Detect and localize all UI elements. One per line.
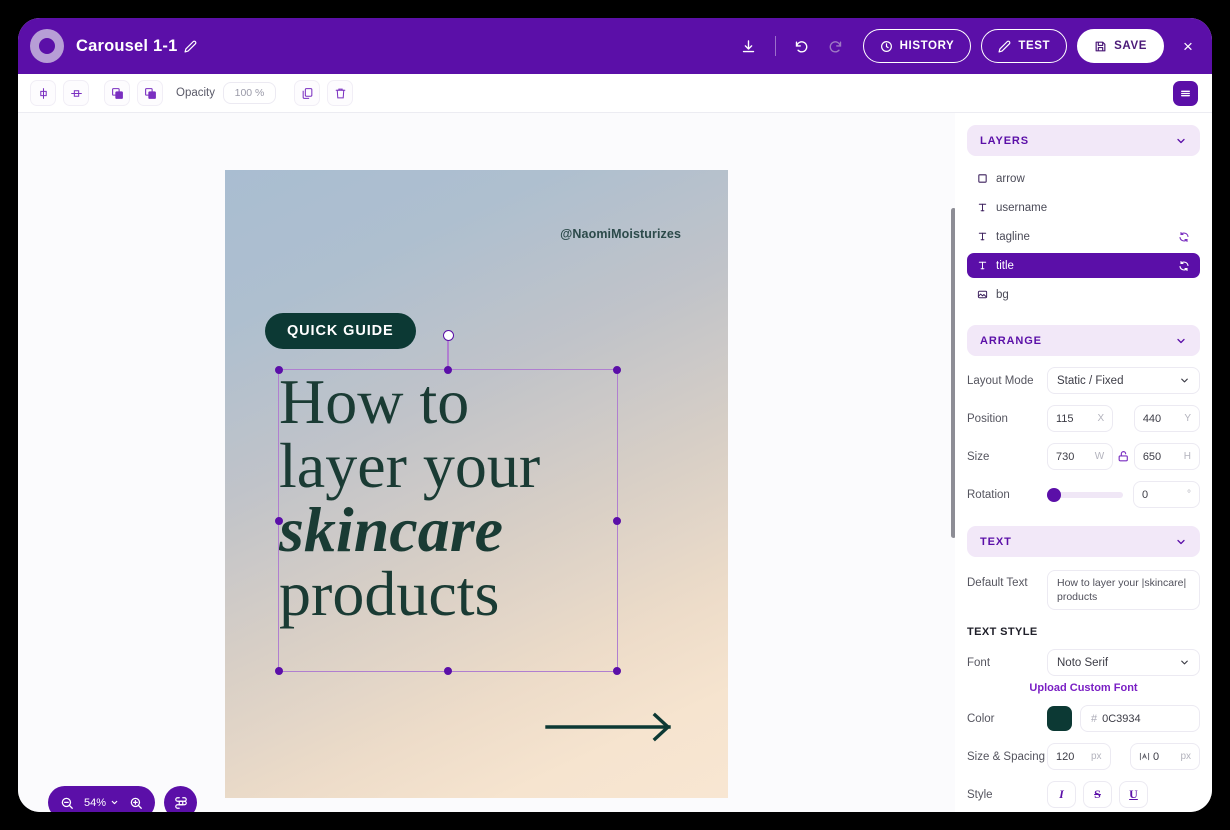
- top-bar-actions: HISTORY TEST SAVE ×: [732, 29, 1212, 63]
- canvas-username-text[interactable]: @NaomiMoisturizes: [560, 227, 681, 241]
- zoom-level-label: 54%: [84, 797, 106, 809]
- arrange-title: ARRANGE: [980, 335, 1042, 347]
- image-icon: [977, 289, 988, 300]
- resize-handle-middle-right[interactable]: [613, 517, 621, 525]
- size-spacing-row: Size & Spacing 120 px 0 px: [955, 743, 1212, 770]
- chevron-down-icon: [1175, 335, 1187, 347]
- letter-spacing-icon: [1139, 751, 1150, 762]
- position-label: Position: [967, 413, 1047, 425]
- layer-sync-icon[interactable]: [1178, 231, 1190, 243]
- font-value: Noto Serif: [1057, 657, 1108, 669]
- zoom-in-icon[interactable]: [129, 796, 143, 810]
- layer-label: bg: [996, 289, 1009, 301]
- font-size-input[interactable]: 120 px: [1047, 743, 1111, 770]
- position-y-input[interactable]: 440 Y: [1134, 405, 1200, 432]
- layer-item-tagline[interactable]: tagline: [967, 224, 1200, 249]
- position-x-unit: X: [1098, 413, 1105, 424]
- history-label: HISTORY: [900, 40, 955, 52]
- underline-button[interactable]: U: [1119, 781, 1148, 808]
- fit-to-screen-button[interactable]: [164, 786, 197, 812]
- font-size-unit: px: [1091, 751, 1102, 762]
- size-row: Size 730 W 650 H: [955, 443, 1212, 470]
- position-x-value: 115: [1056, 413, 1074, 425]
- right-panel: LAYERS arrow username tagline title: [955, 113, 1212, 812]
- redo-button[interactable]: [819, 29, 853, 63]
- layers-list: arrow username tagline title: [955, 156, 1212, 307]
- text-icon: [977, 202, 988, 213]
- chevron-down-icon: [1179, 375, 1190, 386]
- hex-value: 0C3934: [1102, 713, 1141, 725]
- size-height-input[interactable]: 650 H: [1134, 443, 1200, 470]
- canvas-title-text[interactable]: How to layer your skincare products: [279, 370, 629, 626]
- save-button[interactable]: SAVE: [1077, 29, 1164, 63]
- title-line-2: layer your: [279, 434, 629, 498]
- size-width-value: 730: [1056, 451, 1074, 463]
- default-text-label: Default Text: [967, 570, 1047, 589]
- resize-handle-bottom-right[interactable]: [613, 667, 621, 675]
- resize-handle-top-left[interactable]: [275, 366, 283, 374]
- rotation-slider-knob[interactable]: [1047, 488, 1061, 502]
- layers-section-header[interactable]: LAYERS: [967, 125, 1200, 156]
- font-size-value: 120: [1056, 751, 1074, 763]
- text-section-header[interactable]: TEXT: [967, 526, 1200, 557]
- rotation-handle[interactable]: [443, 330, 454, 341]
- save-label: SAVE: [1114, 40, 1147, 52]
- align-vertical-button[interactable]: [63, 80, 89, 106]
- align-horizontal-button[interactable]: [30, 80, 56, 106]
- text-icon: [977, 260, 988, 271]
- canvas-arrow-icon[interactable]: [545, 710, 675, 744]
- zoom-level-dropdown[interactable]: 54%: [84, 797, 119, 809]
- rotation-label: Rotation: [967, 489, 1047, 501]
- position-x-input[interactable]: 115 X: [1047, 405, 1113, 432]
- text-icon: [977, 231, 988, 242]
- resize-handle-bottom-center[interactable]: [444, 667, 452, 675]
- close-button[interactable]: ×: [1178, 38, 1198, 55]
- opacity-label: Opacity: [176, 87, 215, 99]
- size-height-value: 650: [1143, 451, 1161, 463]
- layout-mode-select[interactable]: Static / Fixed: [1047, 367, 1200, 394]
- chevron-down-icon: [1175, 536, 1187, 548]
- text-style-subheading: TEXT STYLE: [955, 626, 1212, 638]
- font-row: Font Noto Serif: [955, 649, 1212, 676]
- letter-spacing-unit: px: [1180, 751, 1191, 762]
- test-button[interactable]: TEST: [981, 29, 1067, 63]
- layer-label: username: [996, 202, 1047, 214]
- delete-button[interactable]: [327, 80, 353, 106]
- test-label: TEST: [1018, 40, 1050, 52]
- app-window: Carousel 1-1 HISTORY TEST: [18, 18, 1212, 812]
- color-hex-input[interactable]: # 0C3934: [1080, 705, 1200, 732]
- position-y-value: 440: [1143, 413, 1161, 425]
- resize-handle-middle-left[interactable]: [275, 517, 283, 525]
- send-backward-button[interactable]: [137, 80, 163, 106]
- bring-forward-button[interactable]: [104, 80, 130, 106]
- history-button[interactable]: HISTORY: [863, 29, 972, 63]
- layer-sync-icon[interactable]: [1178, 260, 1190, 272]
- strikethrough-button[interactable]: S: [1083, 781, 1112, 808]
- rotation-row: Rotation 0 °: [955, 481, 1212, 508]
- style-label: Style: [967, 789, 1047, 801]
- layer-item-username[interactable]: username: [967, 195, 1200, 220]
- size-label: Size: [967, 451, 1047, 463]
- chevron-down-icon: [1175, 135, 1187, 147]
- default-text-input[interactable]: How to layer your |skincare| products: [1047, 570, 1200, 610]
- canvas-area[interactable]: @NaomiMoisturizes QUICK GUIDE How to lay…: [18, 113, 955, 812]
- text-title: TEXT: [980, 536, 1012, 548]
- edit-title-pencil-icon[interactable]: [184, 40, 197, 53]
- upload-custom-font-link[interactable]: Upload Custom Font: [955, 682, 1212, 694]
- layout-mode-row: Layout Mode Static / Fixed: [955, 367, 1212, 394]
- top-bar: Carousel 1-1 HISTORY TEST: [18, 18, 1212, 74]
- project-title: Carousel 1-1: [76, 37, 177, 56]
- color-label: Color: [967, 713, 1047, 725]
- rotation-unit: °: [1187, 489, 1191, 500]
- letter-spacing-value: 0: [1153, 751, 1159, 763]
- layers-title: LAYERS: [980, 135, 1029, 147]
- position-row: Position 115 X 440 Y: [955, 405, 1212, 432]
- unlock-icon[interactable]: [1113, 450, 1134, 463]
- layer-label: tagline: [996, 231, 1030, 243]
- layer-label: arrow: [996, 173, 1025, 185]
- font-label: Font: [967, 657, 1047, 669]
- square-icon: [977, 173, 988, 184]
- hex-prefix: #: [1091, 713, 1097, 725]
- layer-label: title: [996, 260, 1014, 272]
- italic-button[interactable]: I: [1047, 781, 1076, 808]
- rotation-value: 0: [1142, 489, 1148, 501]
- zoom-out-icon[interactable]: [60, 796, 74, 810]
- style-row: Style I S U: [955, 781, 1212, 808]
- letter-spacing-input[interactable]: 0 px: [1130, 743, 1200, 770]
- layer-item-arrow[interactable]: arrow: [967, 166, 1200, 191]
- rotation-stem: [447, 336, 448, 370]
- resize-handle-top-right[interactable]: [613, 366, 621, 374]
- resize-handle-top-center[interactable]: [444, 366, 452, 374]
- app-logo-icon: [30, 29, 64, 63]
- duplicate-button[interactable]: [294, 80, 320, 106]
- layout-mode-label: Layout Mode: [967, 375, 1047, 387]
- artboard[interactable]: @NaomiMoisturizes QUICK GUIDE How to lay…: [225, 170, 728, 798]
- rotation-slider[interactable]: [1047, 492, 1123, 498]
- size-height-unit: H: [1184, 451, 1191, 462]
- default-text-row: Default Text How to layer your |skincare…: [955, 570, 1212, 610]
- zoom-controls: 54%: [48, 786, 155, 812]
- layer-item-title[interactable]: title: [967, 253, 1200, 278]
- undo-button[interactable]: [785, 29, 819, 63]
- opacity-input[interactable]: 100 %: [223, 82, 276, 104]
- size-spacing-label: Size & Spacing: [967, 751, 1047, 763]
- rotation-input[interactable]: 0 °: [1133, 481, 1200, 508]
- canvas-badge-text[interactable]: QUICK GUIDE: [265, 313, 416, 349]
- object-toolbar: Opacity 100 %: [18, 74, 1212, 113]
- color-swatch[interactable]: [1047, 706, 1072, 731]
- color-row: Color # 0C3934: [955, 705, 1212, 732]
- arrange-section-header[interactable]: ARRANGE: [967, 325, 1200, 356]
- panel-menu-button[interactable]: [1173, 81, 1198, 106]
- position-y-unit: Y: [1184, 413, 1191, 424]
- size-width-input[interactable]: 730 W: [1047, 443, 1113, 470]
- download-button[interactable]: [732, 29, 766, 63]
- chevron-down-icon: [1179, 657, 1190, 668]
- size-width-unit: W: [1095, 451, 1104, 462]
- layer-item-bg[interactable]: bg: [967, 282, 1200, 307]
- title-line-4: products: [279, 562, 629, 626]
- toolbar-divider: [775, 36, 776, 56]
- title-line-1: How to: [279, 370, 629, 434]
- layout-mode-value: Static / Fixed: [1057, 375, 1123, 387]
- title-emphasis: skincare: [279, 498, 629, 562]
- resize-handle-bottom-left[interactable]: [275, 667, 283, 675]
- font-select[interactable]: Noto Serif: [1047, 649, 1200, 676]
